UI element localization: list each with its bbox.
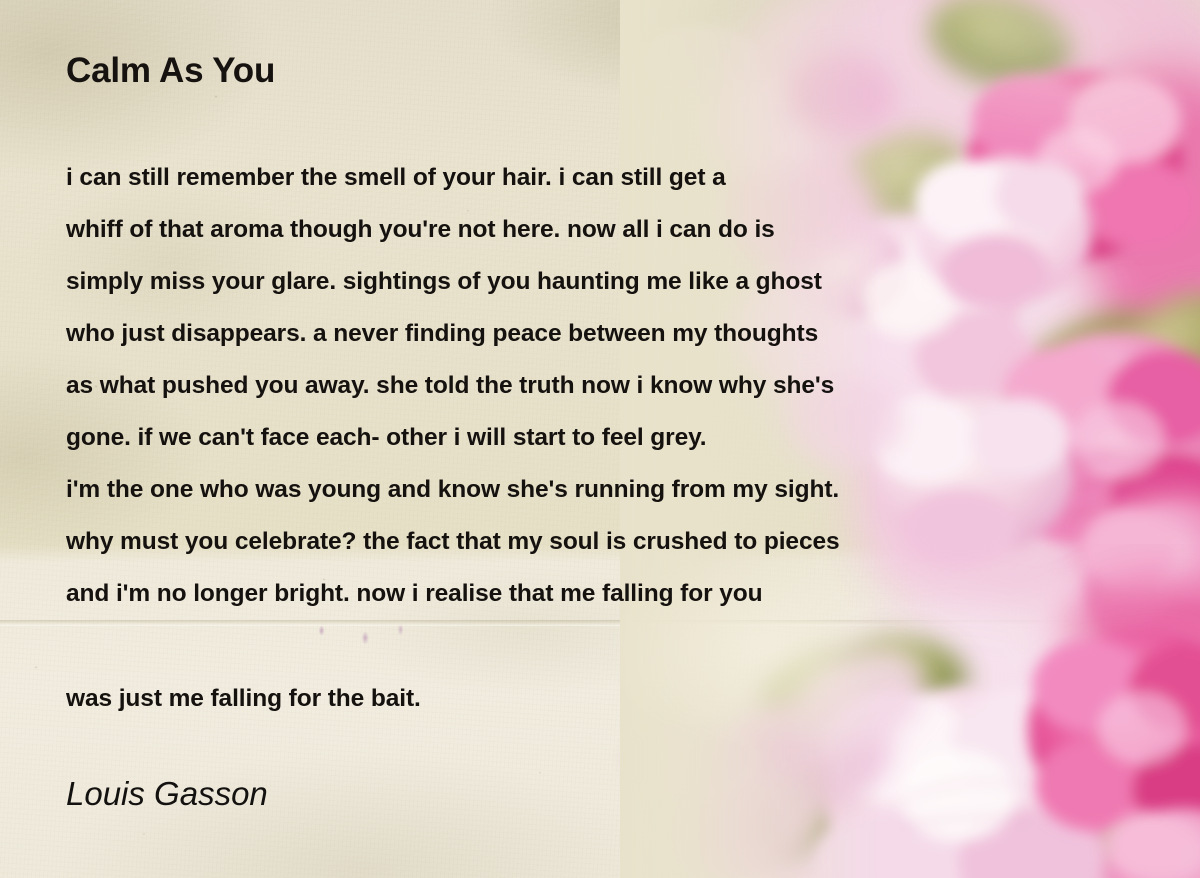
- poem-line: whiff of that aroma though you're not he…: [66, 204, 1156, 256]
- poem-line: as what pushed you away. she told the tr…: [66, 360, 1156, 412]
- poem-closing-line: was just me falling for the bait.: [66, 673, 421, 725]
- poem-line: simply miss your glare. sightings of you…: [66, 256, 1156, 308]
- poem-line: i can still remember the smell of your h…: [66, 152, 1156, 204]
- poem-line: who just disappears. a never finding pea…: [66, 308, 1156, 360]
- poem-text-layer: Calm As You i can still remember the sme…: [0, 0, 1200, 878]
- poem-line: and i'm no longer bright. now i realise …: [66, 568, 1156, 620]
- poem-image-card: Calm As You i can still remember the sme…: [0, 0, 1200, 878]
- poem-line: gone. if we can't face each- other i wil…: [66, 412, 1156, 464]
- poem-author: Louis Gasson: [66, 775, 268, 813]
- poem-line: why must you celebrate? the fact that my…: [66, 516, 1156, 568]
- poem-line: i'm the one who was young and know she's…: [66, 464, 1156, 516]
- page-title: Calm As You: [66, 51, 275, 91]
- poem-body: i can still remember the smell of your h…: [66, 152, 1156, 620]
